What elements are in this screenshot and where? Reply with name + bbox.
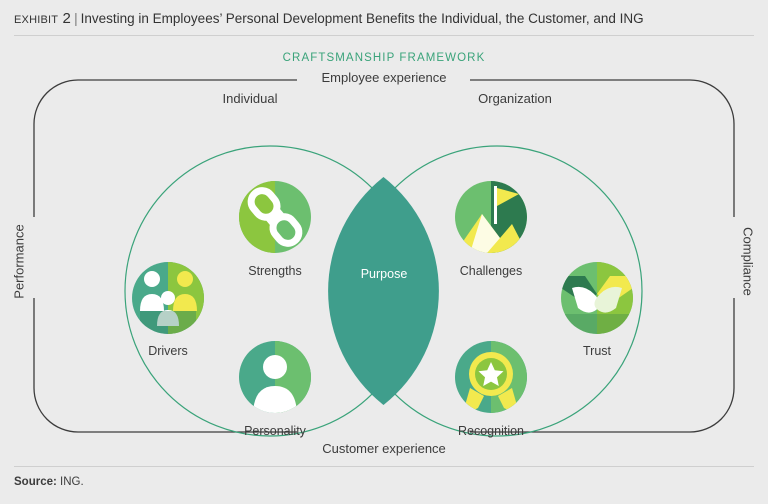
exhibit-number: Exhibit 2	[14, 10, 71, 27]
intersection-label-purpose: Purpose	[324, 267, 444, 281]
edge-label-performance: Performance	[12, 202, 27, 322]
header-separator: |	[71, 11, 81, 26]
edge-label-customer-experience: Customer experience	[0, 441, 768, 456]
node-label-strengths: Strengths	[215, 264, 335, 278]
personality-icon-group	[239, 341, 311, 416]
strengths-icon-group	[239, 181, 311, 253]
circle-label-individual: Individual	[190, 91, 310, 106]
page-title: Investing in Employees’ Personal Develop…	[81, 11, 644, 26]
node-label-challenges: Challenges	[431, 264, 551, 278]
framework-diagram-svg	[0, 36, 768, 466]
footer-divider	[14, 466, 754, 467]
node-label-trust: Trust	[537, 344, 657, 358]
purpose-lens	[328, 177, 439, 405]
source-value: ING.	[60, 476, 84, 488]
exhibit-header: Exhibit 2|Investing in Employees’ Person…	[0, 0, 768, 36]
source-label: Source:	[14, 476, 57, 488]
challenges-icon-group	[455, 181, 527, 253]
craftsmanship-framework-figure: CRAFTSMANSHIP FRAMEWORK	[0, 36, 768, 466]
trust-icon-group	[561, 262, 633, 336]
edge-label-employee-experience: Employee experience	[0, 70, 768, 85]
circle-label-organization: Organization	[455, 91, 575, 106]
edge-label-compliance: Compliance	[741, 202, 756, 322]
node-label-recognition: Recognition	[431, 424, 551, 438]
recognition-icon-group	[455, 341, 527, 416]
source-note: Source: ING.	[14, 476, 84, 488]
node-label-drivers: Drivers	[108, 344, 228, 358]
node-label-personality: Personality	[215, 424, 335, 438]
drivers-icon-group	[132, 262, 204, 335]
